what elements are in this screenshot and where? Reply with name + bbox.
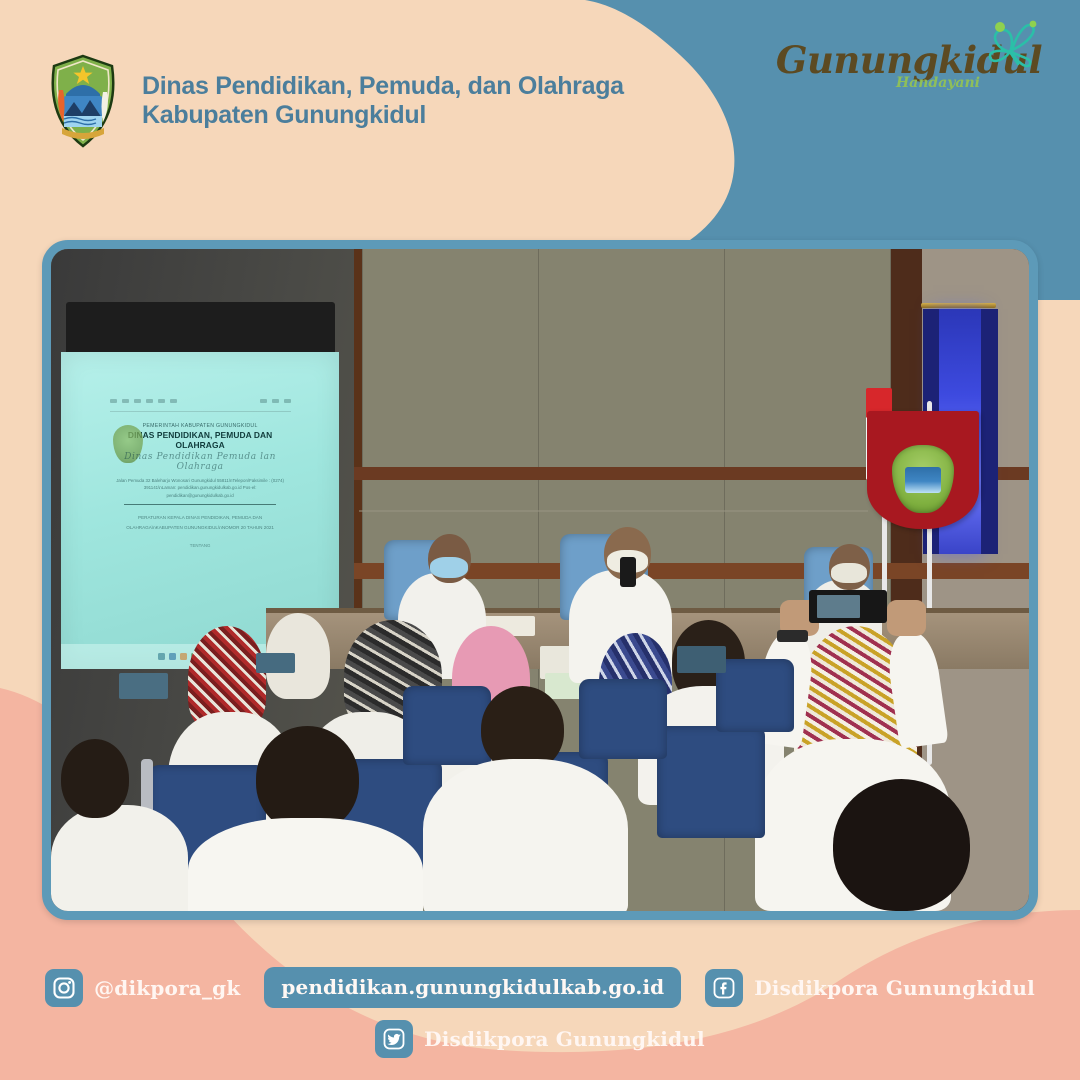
facebook-page-name: Disdikpora Gunungkidul <box>754 976 1035 1000</box>
header-line-2: Kabupaten Gunungkidul <box>142 101 624 131</box>
instagram-link[interactable]: @dikpora_gk <box>45 969 240 1007</box>
facebook-icon[interactable] <box>705 969 743 1007</box>
poster-canvas: Dinas Pendidikan, Pemuda, dan Olahraga K… <box>0 0 1080 1080</box>
instagram-handle: @dikpora_gk <box>94 976 240 1000</box>
header-title: Dinas Pendidikan, Pemuda, dan Olahraga K… <box>142 72 624 131</box>
twitter-handle: Disdikpora Gunungkidul <box>424 1027 705 1051</box>
twitter-icon[interactable] <box>375 1020 413 1058</box>
twitter-link[interactable]: Disdikpora Gunungkidul <box>375 1020 705 1058</box>
instagram-icon[interactable] <box>45 969 83 1007</box>
screen-line-1: PEMERINTAH KABUPATEN GUNUNGKIDUL <box>110 423 291 429</box>
meeting-room-photo: PEMERINTAH KABUPATEN GUNUNGKIDUL DINAS P… <box>51 249 1029 911</box>
gunungkidul-brand-logo: Gunungkidul Handayani <box>776 42 1042 91</box>
footer-social-bar: @dikpora_gk pendidikan.gunungkidulkab.go… <box>0 967 1080 1058</box>
header: Dinas Pendidikan, Pemuda, dan Olahraga K… <box>46 54 624 148</box>
gunungkidul-coat-of-arms-icon <box>46 54 120 148</box>
event-photo-frame: PEMERINTAH KABUPATEN GUNUNGKIDUL DINAS P… <box>42 240 1038 920</box>
butterfly-flourish-icon <box>976 18 1046 76</box>
facebook-link[interactable]: Disdikpora Gunungkidul <box>705 969 1035 1007</box>
screen-line-5: PERATURAN KEPALA DINAS PENDIDIKAN, PEMUD… <box>110 513 291 532</box>
screen-line-6: TENTANG <box>110 543 291 548</box>
screen-line-4: Jalan Pemuda 32 Baleharjo Wonosari Gunun… <box>110 477 291 499</box>
gunungkidul-ceremonial-flag-icon <box>867 411 979 529</box>
website-url-pill[interactable]: pendidikan.gunungkidulkab.go.id <box>264 967 681 1008</box>
header-line-1: Dinas Pendidikan, Pemuda, dan Olahraga <box>142 72 624 102</box>
screen-line-3: Dinas Pendidikan Pemuda lan Olahraga <box>110 452 291 472</box>
